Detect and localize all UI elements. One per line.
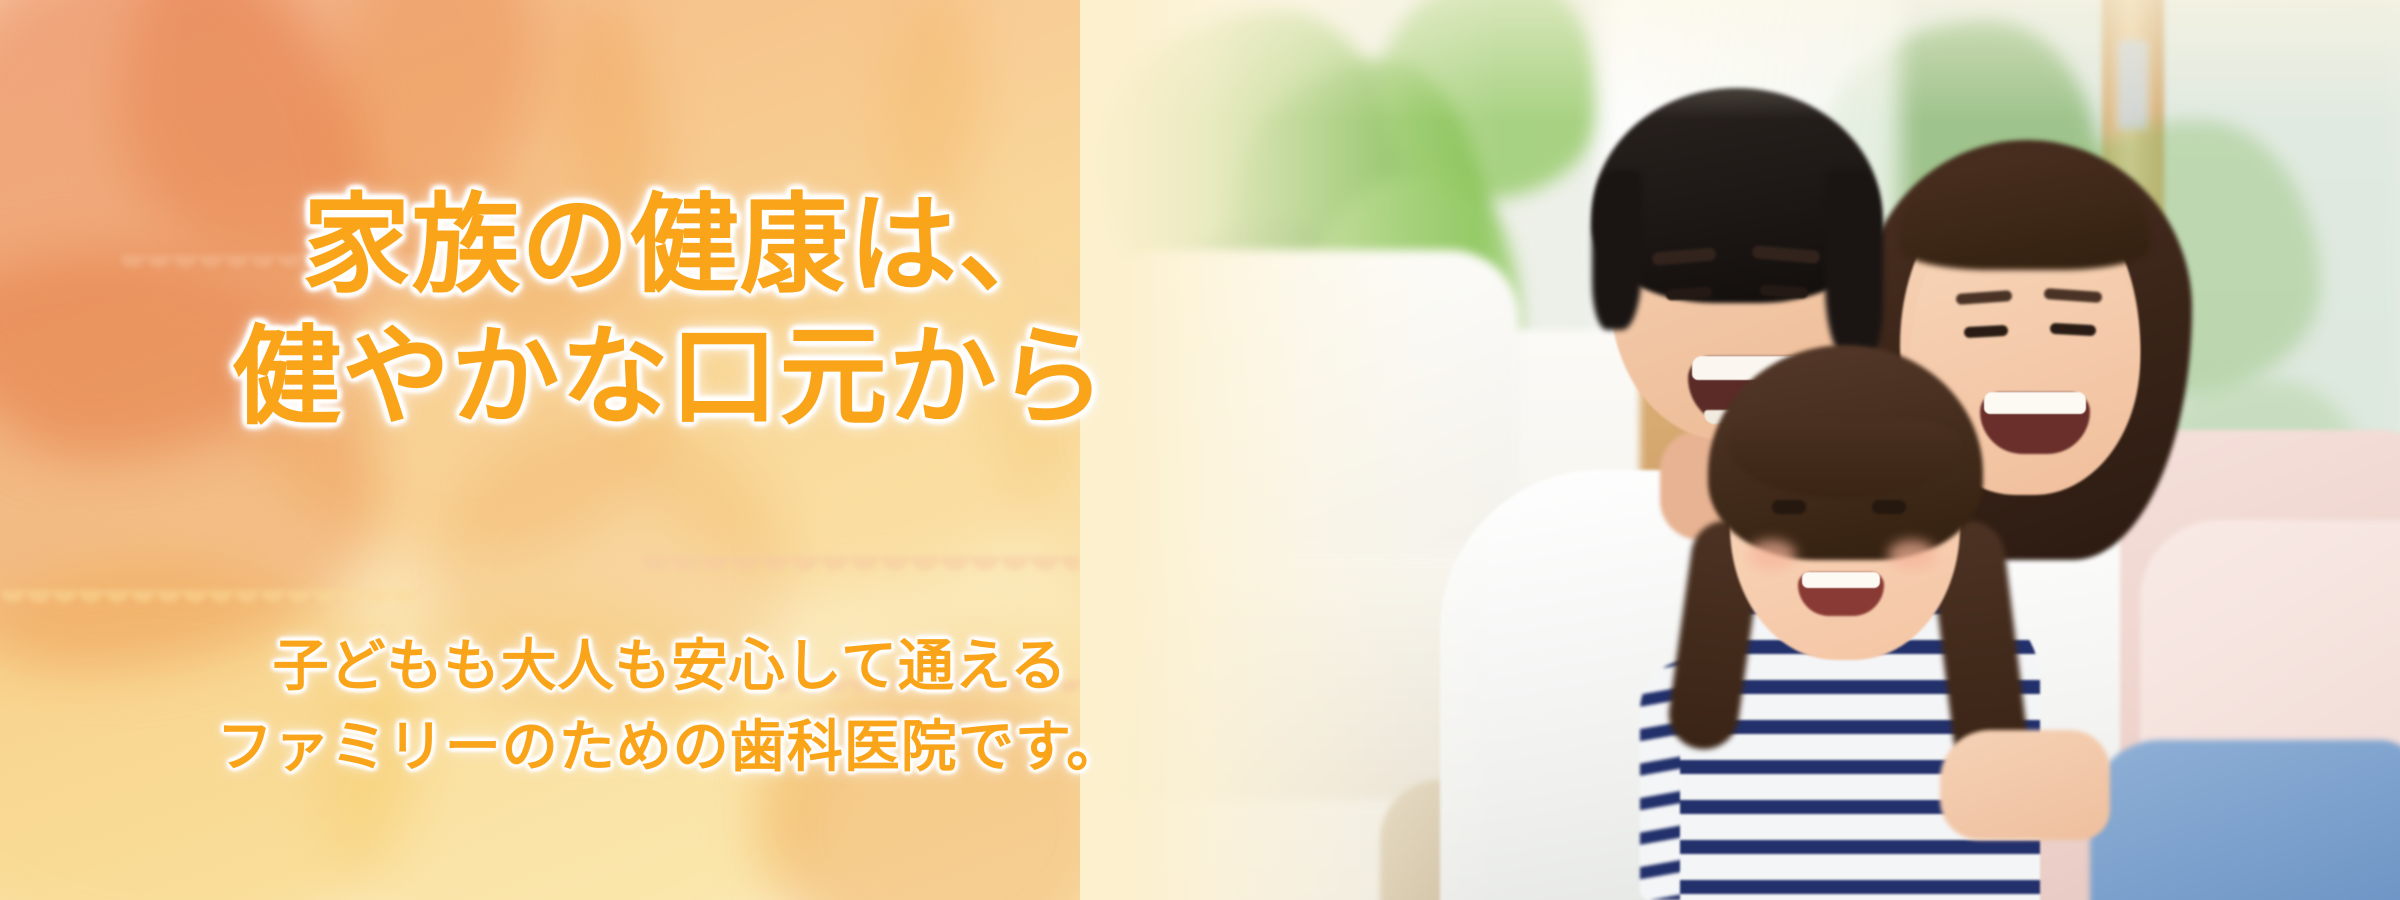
daughter-eye bbox=[1772, 500, 1806, 514]
father-hair bbox=[1592, 170, 1642, 330]
mother-eye bbox=[2050, 323, 2097, 336]
mother-teeth bbox=[1984, 392, 2086, 414]
father-hair bbox=[1825, 170, 1883, 360]
watercolor-scallop-edge bbox=[770, 680, 1130, 710]
hero-banner: 家族の健康は、 健やかな口元から 子どもも大人も安心して通える ファミリーのため… bbox=[0, 0, 2400, 900]
photo-left-fade bbox=[1080, 0, 1500, 900]
mother-jeans bbox=[2090, 740, 2400, 900]
watercolor-scallop-edge bbox=[120, 255, 540, 285]
watercolor-scallop-edge bbox=[0, 590, 420, 620]
daughter-teeth bbox=[1802, 572, 1880, 588]
daughter-cheek bbox=[1748, 540, 1796, 570]
mother-hand bbox=[1940, 730, 2110, 840]
daughter-eye bbox=[1872, 500, 1906, 514]
watercolor-scallop-edge bbox=[640, 556, 1080, 590]
mother-eye bbox=[1964, 325, 2009, 338]
family-photo bbox=[1080, 0, 2400, 900]
daughter-cheek bbox=[1888, 540, 1936, 570]
